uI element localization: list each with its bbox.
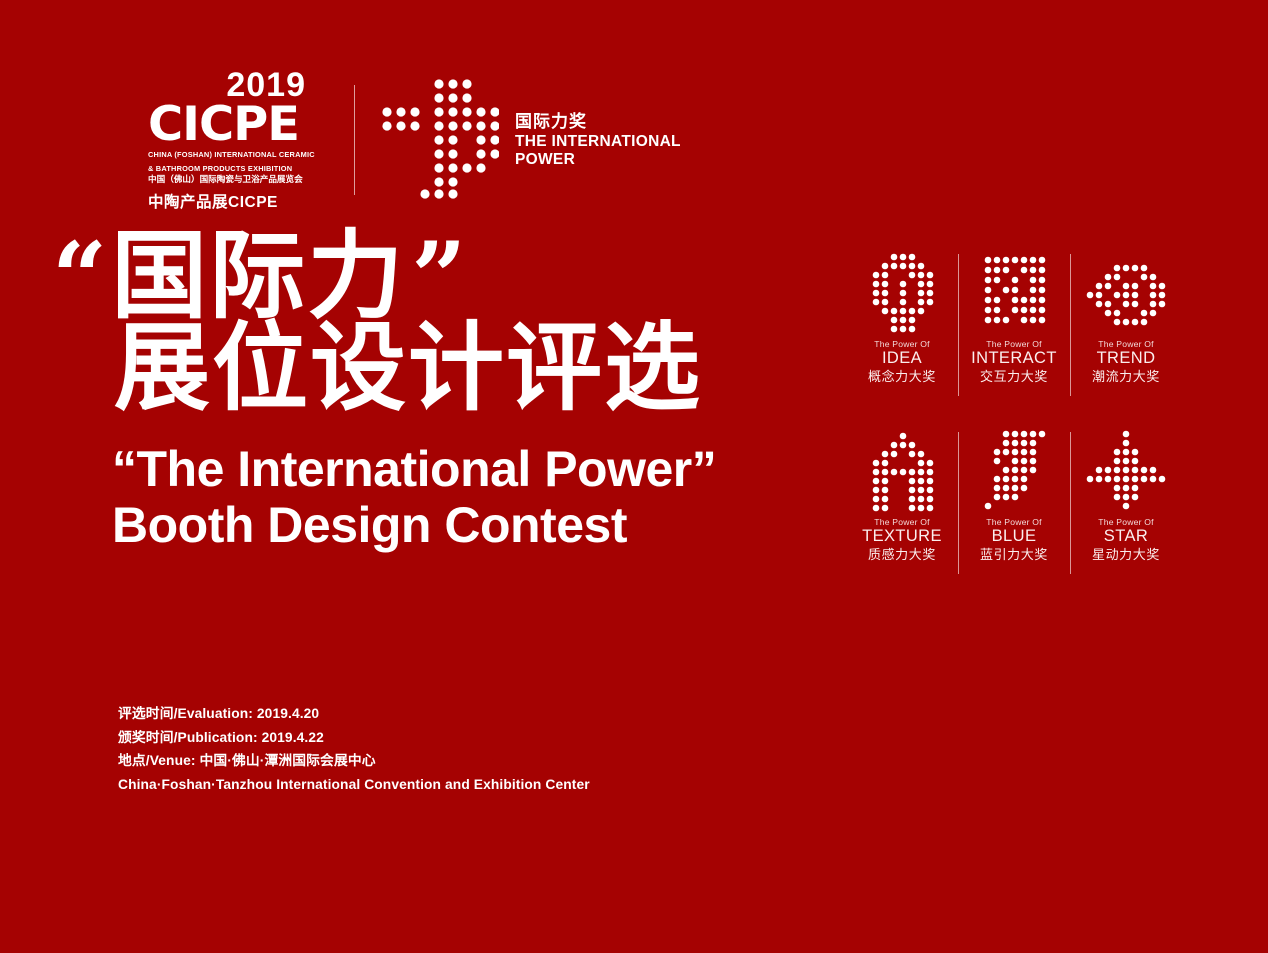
- award-name-chinese: 交互力大奖: [980, 369, 1048, 386]
- award-power-label: The Power Of: [874, 339, 929, 349]
- publication-date: 颁奖时间/Publication: 2019.4.22: [118, 726, 590, 750]
- award-name: INTERACT: [971, 349, 1057, 368]
- award-name: TREND: [1097, 349, 1156, 368]
- award-power-label: The Power Of: [986, 339, 1041, 349]
- award-power-label: The Power Of: [1098, 339, 1153, 349]
- speech-bubble-icon: [975, 252, 1053, 336]
- award-name: STAR: [1104, 527, 1148, 546]
- headline-english-block: “The International Power” Booth Design C…: [112, 441, 842, 553]
- lightning-blue-icon: [975, 430, 1053, 514]
- arch-texture-icon: [863, 430, 941, 514]
- venue-english: China·Foshan·Tanzhou International Conve…: [118, 773, 590, 797]
- quote-open-mark: “: [52, 240, 107, 317]
- evaluation-date: 评选时间/Evaluation: 2019.4.20: [118, 702, 590, 726]
- cicpe-english-line-2: & BATHROOM PRODUCTS EXHIBITION: [148, 164, 292, 173]
- award-power-label: The Power Of: [874, 517, 929, 527]
- headline-chinese-line-1: 国际力: [111, 228, 405, 324]
- award-name-chinese: 概念力大奖: [868, 369, 936, 386]
- award-name: BLUE: [992, 527, 1037, 546]
- headline-chinese-line-1-row: “ 国际力 ”: [52, 228, 842, 324]
- cicpe-chinese-subtitle: 中国（佛山）国际陶瓷与卫浴产品展览会: [148, 174, 303, 185]
- dotted-power-character-icon: [381, 76, 499, 205]
- award-power-label: The Power Of: [1098, 517, 1153, 527]
- headline-chinese-line-2: 展位设计评选: [114, 318, 842, 419]
- lightbulb-idea-icon: [863, 252, 941, 336]
- eye-trend-icon: [1083, 252, 1169, 336]
- international-power-english-2: POWER: [515, 151, 681, 168]
- header-logo-bar: 2019 CICPE CHINA (FOSHAN) INTERNATIONAL …: [148, 74, 681, 206]
- award-item-texture: The Power Of TEXTURE 质感力大奖: [846, 426, 958, 604]
- headline-english-line-2: Booth Design Contest: [112, 497, 842, 553]
- award-item-interact: The Power Of INTERACT 交互力大奖: [958, 248, 1070, 426]
- awards-grid: The Power Of IDEA 概念力大奖 The Power Of INT…: [846, 248, 1182, 604]
- award-item-trend: The Power Of TREND 潮流力大奖: [1070, 248, 1182, 426]
- award-item-star: The Power Of STAR 星动力大奖: [1070, 426, 1182, 604]
- header-divider: [354, 85, 355, 195]
- international-power-logo: 国际力奖 THE INTERNATIONAL POWER: [381, 76, 681, 205]
- headline-block: “ 国际力 ” 展位设计评选 “The International Power”…: [52, 228, 842, 553]
- headline-english-line-1: “The International Power”: [112, 441, 842, 497]
- international-power-text: 国际力奖 THE INTERNATIONAL POWER: [515, 112, 681, 168]
- venue-chinese: 地点/Venue: 中国·佛山·潭洲国际会展中心: [118, 749, 590, 773]
- event-details: 评选时间/Evaluation: 2019.4.20 颁奖时间/Publicat…: [118, 702, 590, 797]
- international-power-english-1: THE INTERNATIONAL: [515, 133, 681, 150]
- cicpe-wordmark: CICPE: [148, 103, 299, 146]
- cicpe-logo: 2019 CICPE CHINA (FOSHAN) INTERNATIONAL …: [148, 68, 308, 212]
- award-power-label: The Power Of: [986, 517, 1041, 527]
- award-name-chinese: 星动力大奖: [1092, 547, 1160, 564]
- award-name: TEXTURE: [862, 527, 942, 546]
- cicpe-tagline: 中陶产品展CICPE: [148, 190, 278, 212]
- international-power-chinese: 国际力奖: [515, 112, 681, 132]
- award-name-chinese: 蓝引力大奖: [980, 547, 1048, 564]
- award-name-chinese: 质感力大奖: [868, 547, 936, 564]
- quote-close-mark: ”: [411, 240, 466, 317]
- award-name: IDEA: [882, 349, 922, 368]
- award-name-chinese: 潮流力大奖: [1092, 369, 1160, 386]
- award-item-idea: The Power Of IDEA 概念力大奖: [846, 248, 958, 426]
- four-point-star-icon: [1083, 430, 1169, 514]
- award-item-blue: The Power Of BLUE 蓝引力大奖: [958, 426, 1070, 604]
